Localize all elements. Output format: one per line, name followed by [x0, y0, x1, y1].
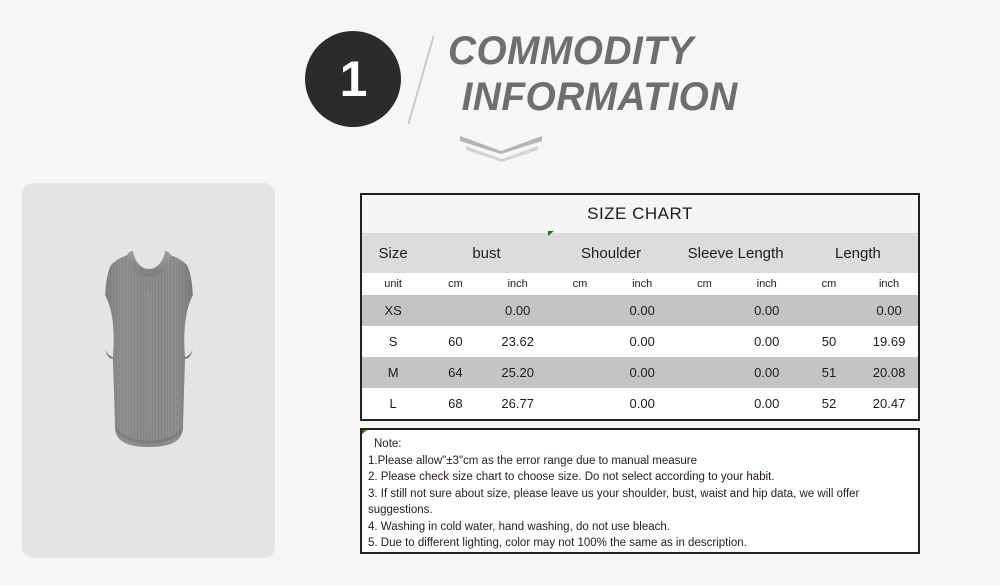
cell-length-cm	[798, 295, 860, 326]
table-row: XS 0.00 0.00 0.00 0.00	[362, 295, 918, 326]
note-line-3: 3. If still not sure about size, please …	[368, 486, 916, 519]
size-chart-header-row: Size bust Shoulder Sleeve Length Length	[362, 233, 918, 273]
cell-length-cm: 50	[798, 326, 860, 357]
cell-shoulder-inch: 0.00	[611, 295, 673, 326]
unit-bust-cm: cm	[424, 273, 486, 295]
cell-sleeve-cm	[673, 295, 735, 326]
green-triangle-marker	[362, 430, 367, 434]
cell-sleeve-inch: 0.00	[736, 295, 798, 326]
cell-size: S	[362, 326, 424, 357]
note-box: Note: 1.Please allow"±3"cm as the error …	[360, 428, 920, 554]
unit-length-cm: cm	[798, 273, 860, 295]
cell-sleeve-cm	[673, 357, 735, 388]
cell-shoulder-inch: 0.00	[611, 388, 673, 419]
table-row: S 60 23.62 0.00 0.00 50 19.69	[362, 326, 918, 357]
cell-shoulder-cm	[549, 388, 611, 419]
cell-bust-inch: 23.62	[487, 326, 549, 357]
cell-size: XS	[362, 295, 424, 326]
unit-label: unit	[362, 273, 424, 295]
size-chart-table: SIZE CHART Size bust Shoulder Sleeve Len…	[360, 193, 920, 421]
cell-sleeve-cm	[673, 326, 735, 357]
product-image-card	[22, 183, 275, 558]
cell-bust-inch: 26.77	[487, 388, 549, 419]
double-chevron-down-icon	[460, 136, 580, 182]
cell-bust-inch: 25.20	[487, 357, 549, 388]
note-line-2: 2. Please check size chart to choose siz…	[368, 469, 918, 486]
size-chart-unit-row: unit cm inch cm inch cm inch cm inch	[362, 273, 918, 295]
diagonal-slash-icon	[407, 36, 434, 125]
unit-sleeve-cm: cm	[673, 273, 735, 295]
step-number-label: 1	[340, 54, 367, 104]
size-chart-title-row: SIZE CHART	[362, 195, 918, 233]
note-line-5: 5. Due to different lighting, color may …	[368, 535, 918, 552]
size-chart-grid: SIZE CHART Size bust Shoulder Sleeve Len…	[362, 195, 918, 419]
cell-bust-cm: 68	[424, 388, 486, 419]
cell-bust-cm	[424, 295, 486, 326]
cell-length-inch: 20.47	[860, 388, 918, 419]
cell-shoulder-cm	[549, 295, 611, 326]
unit-shoulder-inch: inch	[611, 273, 673, 295]
cell-shoulder-inch: 0.00	[611, 357, 673, 388]
table-row: M 64 25.20 0.00 0.00 51 20.08	[362, 357, 918, 388]
cell-shoulder-inch: 0.00	[611, 326, 673, 357]
cell-length-cm: 51	[798, 357, 860, 388]
product-garment-image	[89, 251, 209, 471]
cell-length-inch: 20.08	[860, 357, 918, 388]
size-chart-title: SIZE CHART	[362, 195, 918, 233]
cell-sleeve-inch: 0.00	[736, 388, 798, 419]
green-triangle-marker	[548, 231, 554, 236]
chevron-down-icon-lower	[466, 146, 548, 162]
step-number-badge: 1	[305, 31, 401, 127]
header-bust: bust	[424, 233, 549, 273]
header-shoulder: Shoulder	[549, 233, 674, 273]
note-line-1: 1.Please allow"±3"cm as the error range …	[368, 453, 918, 470]
cell-length-inch: 19.69	[860, 326, 918, 357]
cell-sleeve-cm	[673, 388, 735, 419]
unit-sleeve-inch: inch	[736, 273, 798, 295]
unit-length-inch: inch	[860, 273, 918, 295]
cell-length-inch: 0.00	[860, 295, 918, 326]
header-size: Size	[362, 233, 424, 273]
page-title-line-2: INFORMATION	[448, 74, 739, 120]
page-title-line-1: COMMODITY	[448, 28, 739, 74]
cell-size: M	[362, 357, 424, 388]
note-heading: Note:	[368, 436, 918, 453]
unit-bust-inch: inch	[487, 273, 549, 295]
cell-shoulder-cm	[549, 326, 611, 357]
cell-bust-inch: 0.00	[487, 295, 549, 326]
cell-sleeve-inch: 0.00	[736, 326, 798, 357]
cell-shoulder-cm	[549, 357, 611, 388]
header-sleeve-length: Sleeve Length	[673, 233, 798, 273]
cell-sleeve-inch: 0.00	[736, 357, 798, 388]
cell-length-cm: 52	[798, 388, 860, 419]
header-length: Length	[798, 233, 918, 273]
table-row: L 68 26.77 0.00 0.00 52 20.47	[362, 388, 918, 419]
cell-bust-cm: 64	[424, 357, 486, 388]
page-title: COMMODITY INFORMATION	[448, 28, 748, 120]
unit-shoulder-cm: cm	[549, 273, 611, 295]
cell-bust-cm: 60	[424, 326, 486, 357]
note-line-4: 4. Washing in cold water, hand washing, …	[368, 519, 918, 536]
cell-size: L	[362, 388, 424, 419]
section-header: 1 COMMODITY INFORMATION	[300, 28, 760, 158]
